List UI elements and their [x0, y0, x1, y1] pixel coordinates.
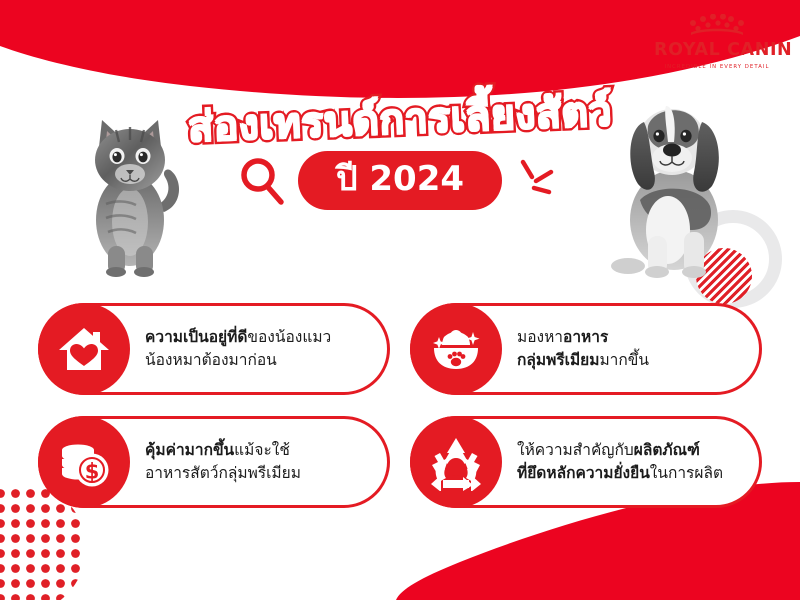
house-heart-icon — [38, 303, 130, 395]
info-card-line: อาหารสัตว์กลุ่มพรีเมียม — [145, 462, 301, 485]
coins-dollar-icon: $ — [38, 416, 130, 508]
headline-block: ส่องเทรนด์การเลี้ยงสัตว์ ปี 2024 — [0, 96, 800, 210]
crown-icon — [685, 14, 749, 36]
info-card-sustainability[interactable]: ให้ความสำคัญกับผลิตภัณฑ์ ที่ยึดหลักความย… — [410, 416, 762, 508]
royal-canin-logo: ROYAL CANIN INCREDIBLE IN EVERY DETAIL — [654, 14, 780, 70]
info-cards-grid: ความเป็นอยู่ที่ดีของน้องแมว น้องหมาต้องม… — [38, 303, 762, 508]
brand-wordmark: ROYAL CANIN — [654, 42, 780, 60]
info-card-line: ให้ความสำคัญกับผลิตภัณฑ์ — [517, 439, 723, 462]
svg-text:$: $ — [85, 460, 100, 484]
info-card-line: ที่ยึดหลักความยั่งยืนในการผลิต — [517, 462, 723, 485]
info-card-wellbeing[interactable]: ความเป็นอยู่ที่ดีของน้องแมว น้องหมาต้องม… — [38, 303, 390, 395]
brand-tagline: INCREDIBLE IN EVERY DETAIL — [654, 64, 780, 70]
info-card-line: ความเป็นอยู่ที่ดีของน้องแมว — [145, 326, 331, 349]
info-card-line: น้องหมาต้องมาก่อน — [145, 349, 331, 372]
info-card-text: คุ้มค่ามากขึ้นแม้จะใช้ อาหารสัตว์กลุ่มพร… — [145, 439, 301, 486]
info-card-value-for-money[interactable]: $ คุ้มค่ามากขึ้นแม้จะใช้ อาหารสัตว์กลุ่ม… — [38, 416, 390, 508]
year-badge: ปี 2024 — [298, 151, 502, 210]
info-card-text: ความเป็นอยู่ที่ดีของน้องแมว น้องหมาต้องม… — [145, 326, 331, 373]
magnifying-glass-icon — [238, 155, 286, 207]
recycle-icon — [410, 416, 502, 508]
info-card-line: มองหาอาหาร — [517, 326, 649, 349]
infographic-poster: ส่องเทรนด์การเลี้ยงสัตว์ ปี 2024 — [0, 0, 800, 600]
info-card-line: คุ้มค่ามากขึ้นแม้จะใช้ — [145, 439, 301, 462]
pet-food-bowl-icon — [410, 303, 502, 395]
info-card-line: กลุ่มพรีเมียมมากขึ้น — [517, 349, 649, 372]
info-card-text: ให้ความสำคัญกับผลิตภัณฑ์ ที่ยึดหลักความย… — [517, 439, 723, 486]
year-row: ปี 2024 — [0, 151, 796, 210]
info-card-premium-food[interactable]: มองหาอาหาร กลุ่มพรีเมียมมากขึ้น — [410, 303, 762, 395]
info-card-text: มองหาอาหาร กลุ่มพรีเมียมมากขึ้น — [517, 326, 649, 373]
sparkle-burst-icon — [514, 157, 554, 205]
page-title: ส่องเทรนด์การเลี้ยงสัตว์ — [0, 81, 800, 159]
